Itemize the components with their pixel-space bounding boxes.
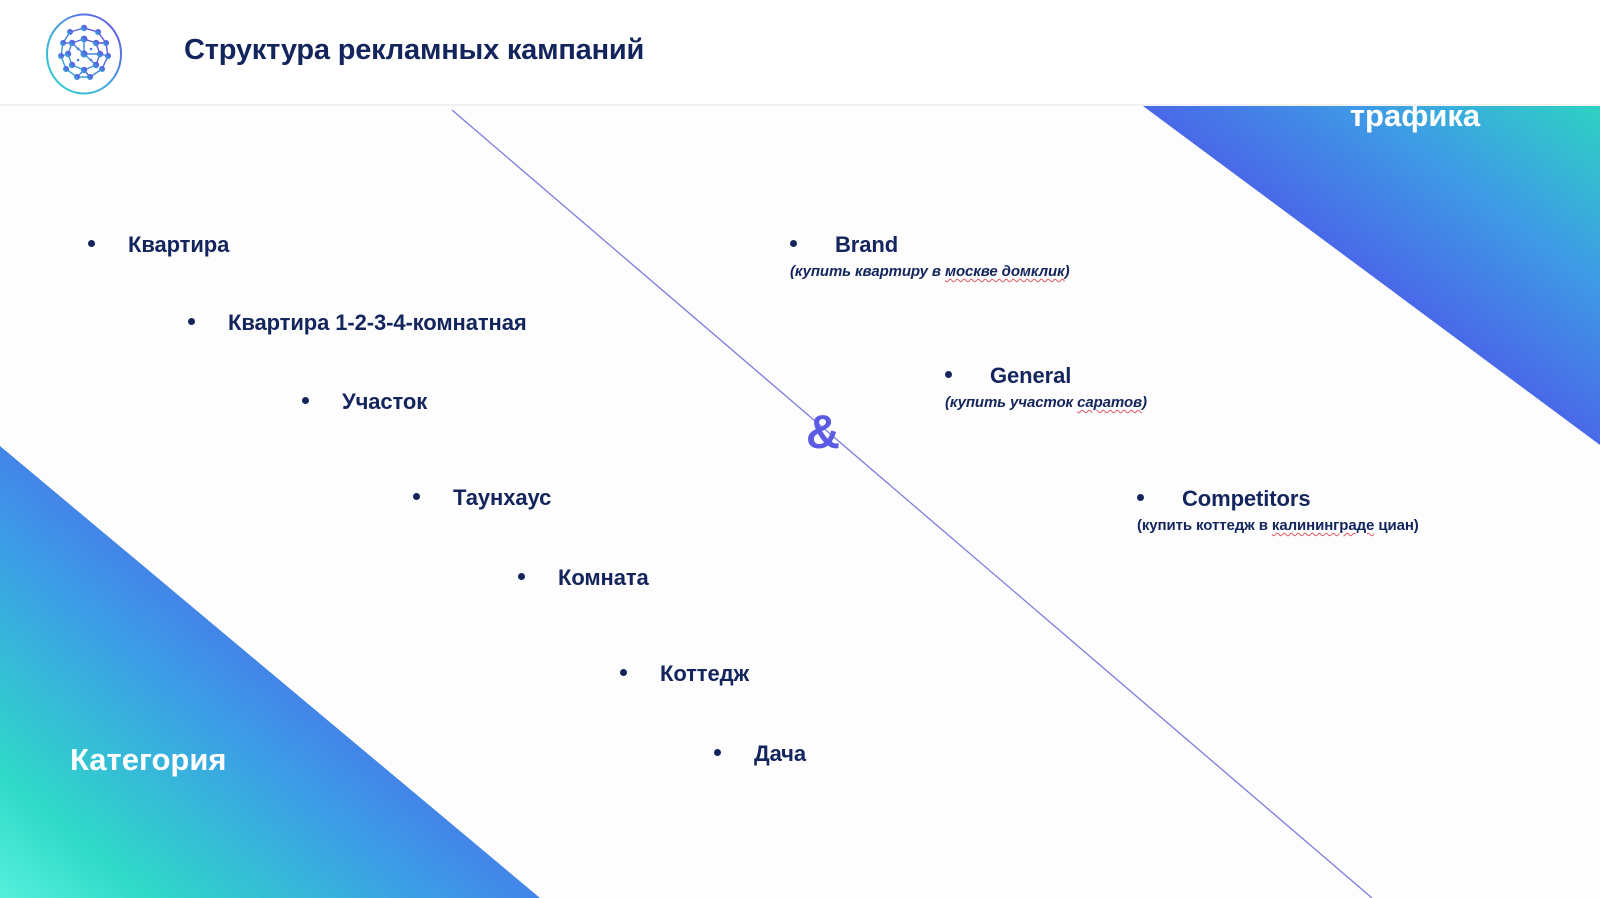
example-misspelled-term: саратов xyxy=(1077,394,1142,411)
slide-canvas: Тип трафика Категория xyxy=(0,0,1600,898)
category-item-label: Квартира xyxy=(128,232,229,258)
traffic-type-item-label: Competitors xyxy=(1182,486,1310,512)
category-item-room[interactable]: Комната xyxy=(518,565,649,591)
example-misspelled-term: калининграде xyxy=(1272,517,1374,534)
category-item-dacha[interactable]: Дача xyxy=(714,741,806,767)
category-item-apartment[interactable]: Квартира xyxy=(88,232,229,258)
traffic-type-item-general[interactable]: General (купить участок саратов) xyxy=(945,363,1147,411)
category-item-label: Таунхаус xyxy=(453,485,551,511)
example-suffix: ) xyxy=(1065,263,1070,280)
bullet-dot-icon xyxy=(302,397,309,404)
network-nodes-circle-logo-icon xyxy=(44,12,124,96)
example-suffix: ) xyxy=(1142,394,1147,411)
page-title: Структура рекламных кампаний xyxy=(184,34,644,67)
traffic-type-item-label: Brand xyxy=(835,232,898,258)
category-item-townhouse[interactable]: Таунхаус xyxy=(413,485,551,511)
bullet-dot-icon xyxy=(413,493,420,500)
bullet-dot-icon xyxy=(518,573,525,580)
category-item-label: Коттедж xyxy=(660,661,749,687)
traffic-type-item-label: General xyxy=(990,363,1071,389)
category-item-label: Комната xyxy=(558,565,649,591)
bullet-dot-icon xyxy=(620,669,627,676)
ampersand-operator: & xyxy=(806,408,840,455)
bullet-dot-icon xyxy=(1137,494,1144,501)
traffic-type-item-example: (купить коттедж в калининграде циан) xyxy=(1137,517,1419,534)
traffic-type-item-brand[interactable]: Brand (купить квартиру в москве домклик) xyxy=(790,232,1069,280)
traffic-type-item-example: (купить участок саратов) xyxy=(945,394,1147,411)
example-misspelled-term: москве домклик xyxy=(945,263,1065,280)
category-item-cottage[interactable]: Коттедж xyxy=(620,661,749,687)
header-divider xyxy=(0,104,1600,106)
traffic-type-item-competitors[interactable]: Competitors (купить коттедж в калинингра… xyxy=(1137,486,1419,534)
category-item-apartment-rooms[interactable]: Квартира 1-2-3-4-комнатная xyxy=(188,310,527,336)
example-prefix: (купить участок xyxy=(945,394,1077,411)
bullet-dot-icon xyxy=(714,749,721,756)
bullet-dot-icon xyxy=(945,371,952,378)
bullet-dot-icon xyxy=(790,240,797,247)
bullet-dot-icon xyxy=(188,318,195,325)
traffic-type-item-example: (купить квартиру в москве домклик) xyxy=(790,263,1069,280)
category-item-land-plot[interactable]: Участок xyxy=(302,389,427,415)
bullet-dot-icon xyxy=(88,240,95,247)
category-item-label: Дача xyxy=(754,741,806,767)
example-prefix: (купить коттедж в xyxy=(1137,517,1272,534)
example-suffix: циан) xyxy=(1374,517,1418,534)
category-item-label: Участок xyxy=(342,389,427,415)
example-prefix: (купить квартиру в xyxy=(790,263,945,280)
category-item-label: Квартира 1-2-3-4-комнатная xyxy=(228,310,527,336)
